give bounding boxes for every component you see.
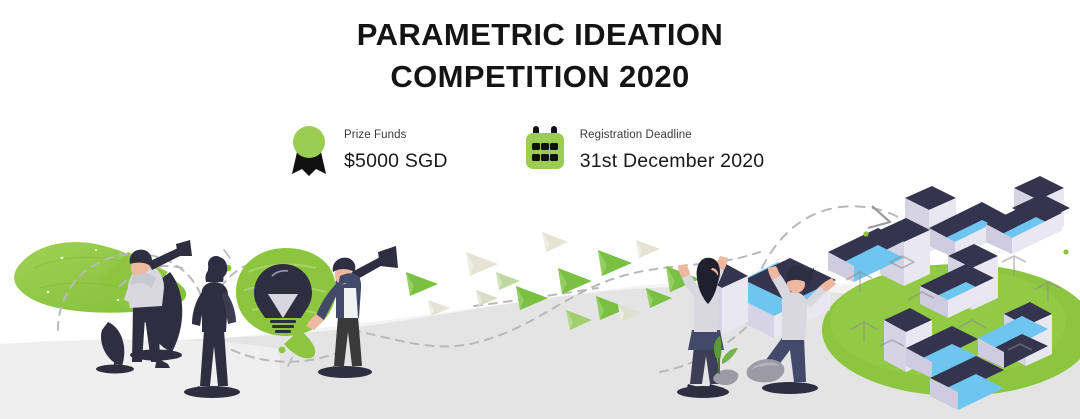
poster-banner: PARAMETRIC IDEATION COMPETITION 2020 Pri… (0, 0, 1080, 419)
info-label-prize-funds: Prize Funds (344, 128, 448, 142)
info-value-registration-deadline: 31st December 2020 (580, 150, 765, 173)
page-title-line-1: PARAMETRIC IDEATION (0, 14, 1080, 56)
page-title-line-2: COMPETITION 2020 (0, 56, 1080, 98)
info-text-prize-funds: Prize Funds $5000 SGD (344, 124, 448, 173)
info-value-prize-funds: $5000 SGD (344, 150, 448, 173)
info-item-prize-funds: Prize Funds $5000 SGD (288, 124, 448, 176)
info-label-registration-deadline: Registration Deadline (580, 128, 765, 142)
info-item-registration-deadline: Registration Deadline 31st December 2020 (524, 124, 765, 176)
poster-header: PARAMETRIC IDEATION COMPETITION 2020 (0, 14, 1080, 98)
info-row: Prize Funds $5000 SGD Registr (288, 124, 764, 176)
info-text-registration-deadline: Registration Deadline 31st December 2020 (580, 124, 765, 173)
calendar-icon (524, 124, 566, 176)
award-ribbon-icon (288, 124, 330, 176)
